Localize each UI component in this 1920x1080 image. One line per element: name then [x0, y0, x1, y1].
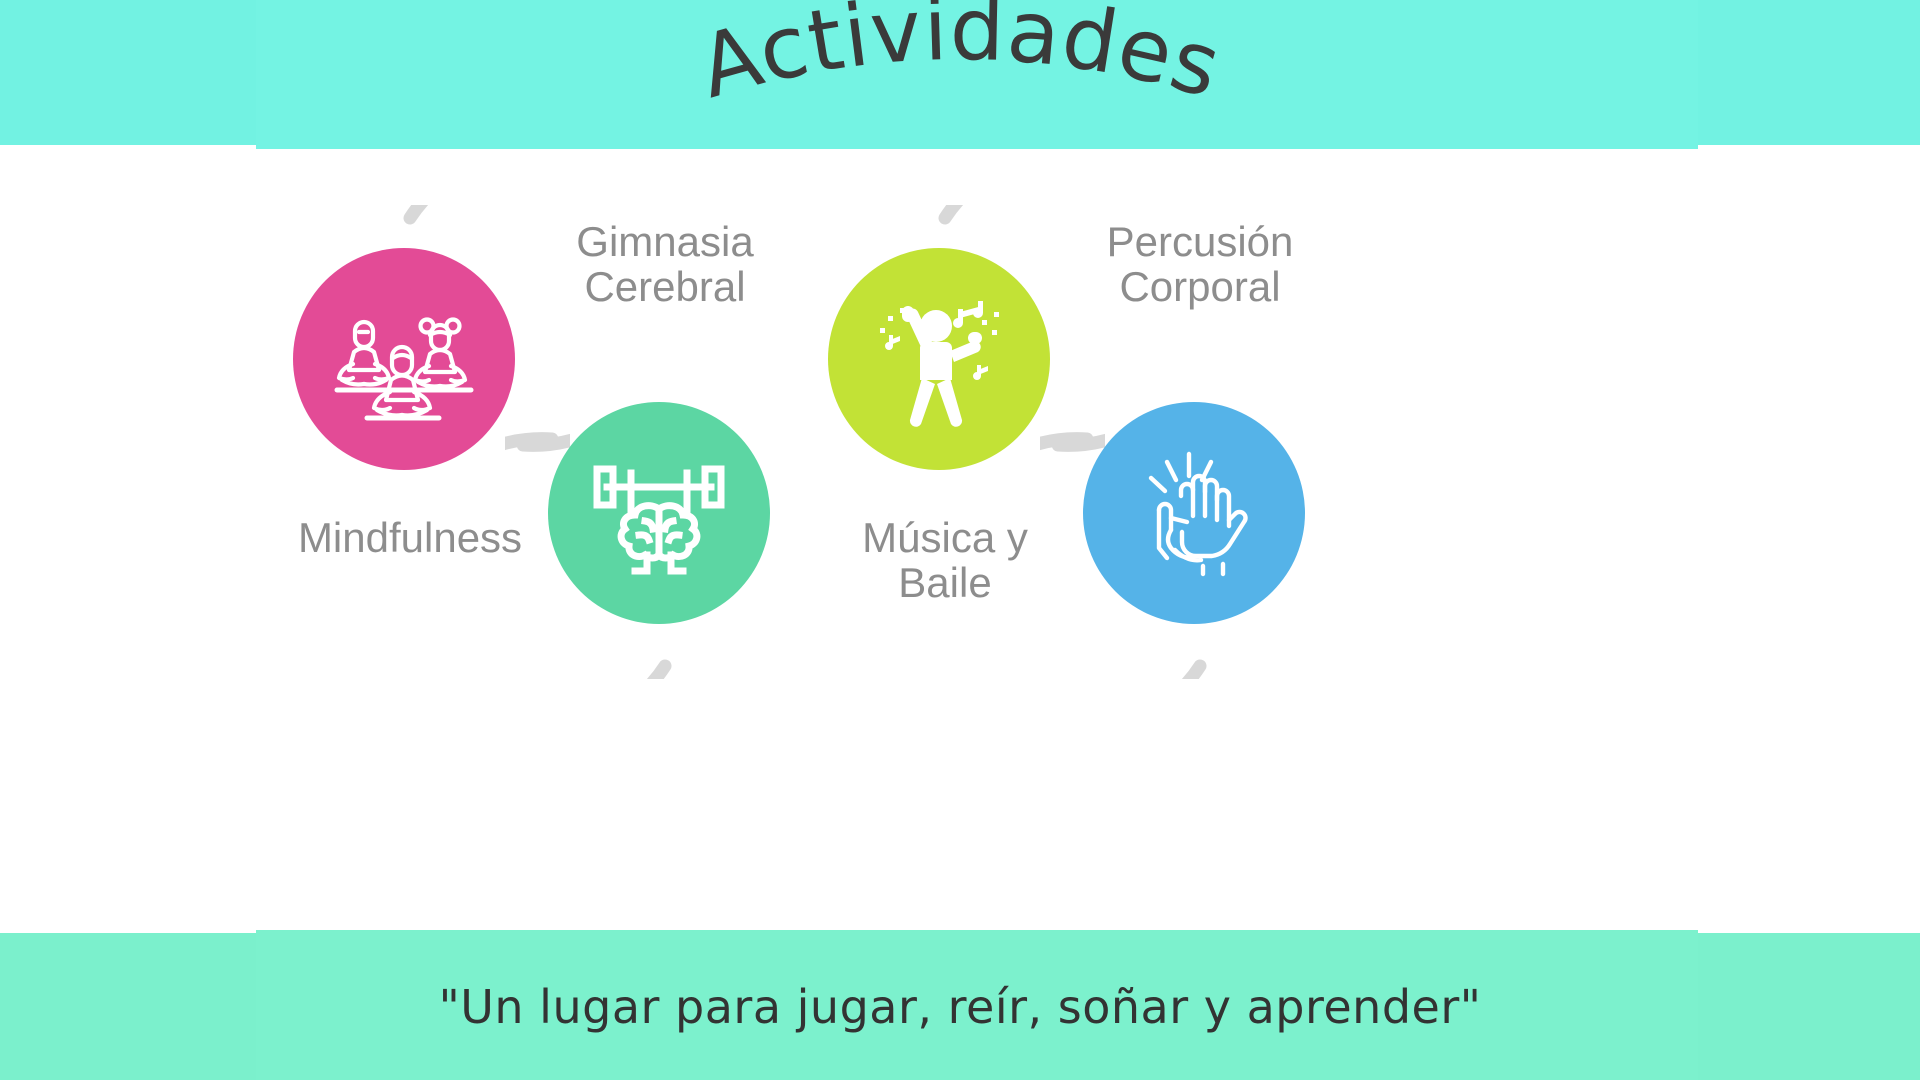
activity-circle-percusion-corporal[interactable] [1083, 402, 1305, 624]
group-meditation-icon [329, 294, 479, 424]
activities-chain: Mindfulness [0, 149, 1920, 933]
activity-node-percusion-corporal[interactable]: Percusión Corporal [1040, 359, 1360, 679]
slide-canvas: Actividades [0, 0, 1920, 1080]
clapping-hands-icon [1119, 438, 1269, 588]
page-title: Actividades [0, 0, 1920, 149]
page-title-textpath: Actividades [689, 0, 1232, 118]
page-title-text: Actividades [689, 0, 1232, 118]
activity-label-percusion-corporal: Percusión Corporal [980, 219, 1420, 310]
brain-barbell-icon [589, 443, 729, 583]
footer-quote: "Un lugar para jugar, reír, soñar y apre… [0, 933, 1920, 1080]
page-title-arc: Actividades [580, 0, 1340, 150]
